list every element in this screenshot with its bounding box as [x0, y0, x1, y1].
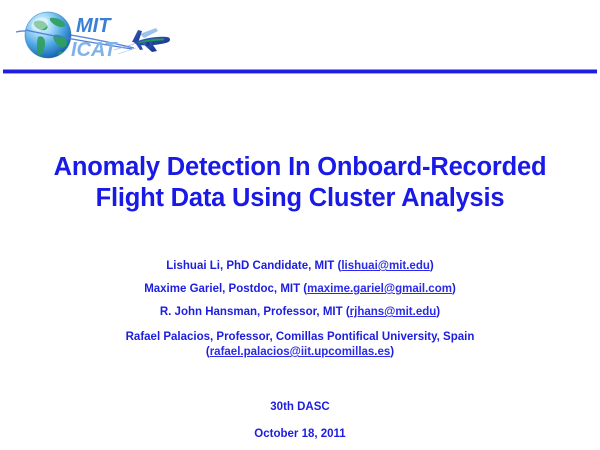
author-paren-close: )	[390, 346, 394, 358]
conference-name: 30th DASC	[0, 394, 600, 421]
author-email-link[interactable]: rafael.palacios@iit.upcomillas.es	[210, 346, 391, 358]
author-row: Lishuai Li, PhD Candidate, MIT (lishuai@…	[0, 255, 600, 278]
author-paren: )	[452, 283, 456, 295]
mit-icat-logo: MIT ICAT	[14, 4, 204, 66]
author-list: Lishuai Li, PhD Candidate, MIT (lishuai@…	[0, 255, 600, 360]
conference-date: October 18, 2011	[0, 421, 600, 448]
author-email-row: (rafael.palacios@iit.upcomillas.es)	[0, 345, 600, 360]
author-name: R. John Hansman, Professor, MIT (	[160, 306, 350, 318]
header-divider	[3, 69, 597, 74]
author-row: Maxime Gariel, Postdoc, MIT (maxime.gari…	[0, 278, 600, 301]
logo-text-mit: MIT	[76, 15, 112, 37]
page-title: Anomaly Detection In Onboard-Recorded Fl…	[0, 152, 600, 214]
author-email-link[interactable]: lishuai@mit.edu	[341, 260, 430, 272]
author-paren: )	[430, 260, 434, 272]
title-slide: MIT ICAT	[0, 0, 600, 450]
author-name: Lishuai Li, PhD Candidate, MIT (	[166, 260, 341, 272]
logo-text-icat: ICAT	[71, 39, 118, 61]
conference-info: 30th DASC October 18, 2011	[0, 394, 600, 448]
author-affiliation: Rafael Palacios, Professor, Comillas Pon…	[0, 330, 600, 345]
title-line-2: Flight Data Using Cluster Analysis	[0, 183, 600, 214]
airplane-icon	[114, 28, 170, 54]
title-line-1: Anomaly Detection In Onboard-Recorded	[0, 152, 600, 183]
author-row: R. John Hansman, Professor, MIT (rjhans@…	[0, 301, 600, 324]
author-paren: )	[436, 306, 440, 318]
author-email-link[interactable]: maxime.gariel@gmail.com	[307, 283, 452, 295]
logo-artwork: MIT ICAT	[14, 4, 204, 66]
author-email-link[interactable]: rjhans@mit.edu	[350, 306, 437, 318]
author-row: Rafael Palacios, Professor, Comillas Pon…	[0, 324, 600, 360]
author-name: Maxime Gariel, Postdoc, MIT (	[144, 283, 307, 295]
divider-shadow	[3, 73, 597, 74]
